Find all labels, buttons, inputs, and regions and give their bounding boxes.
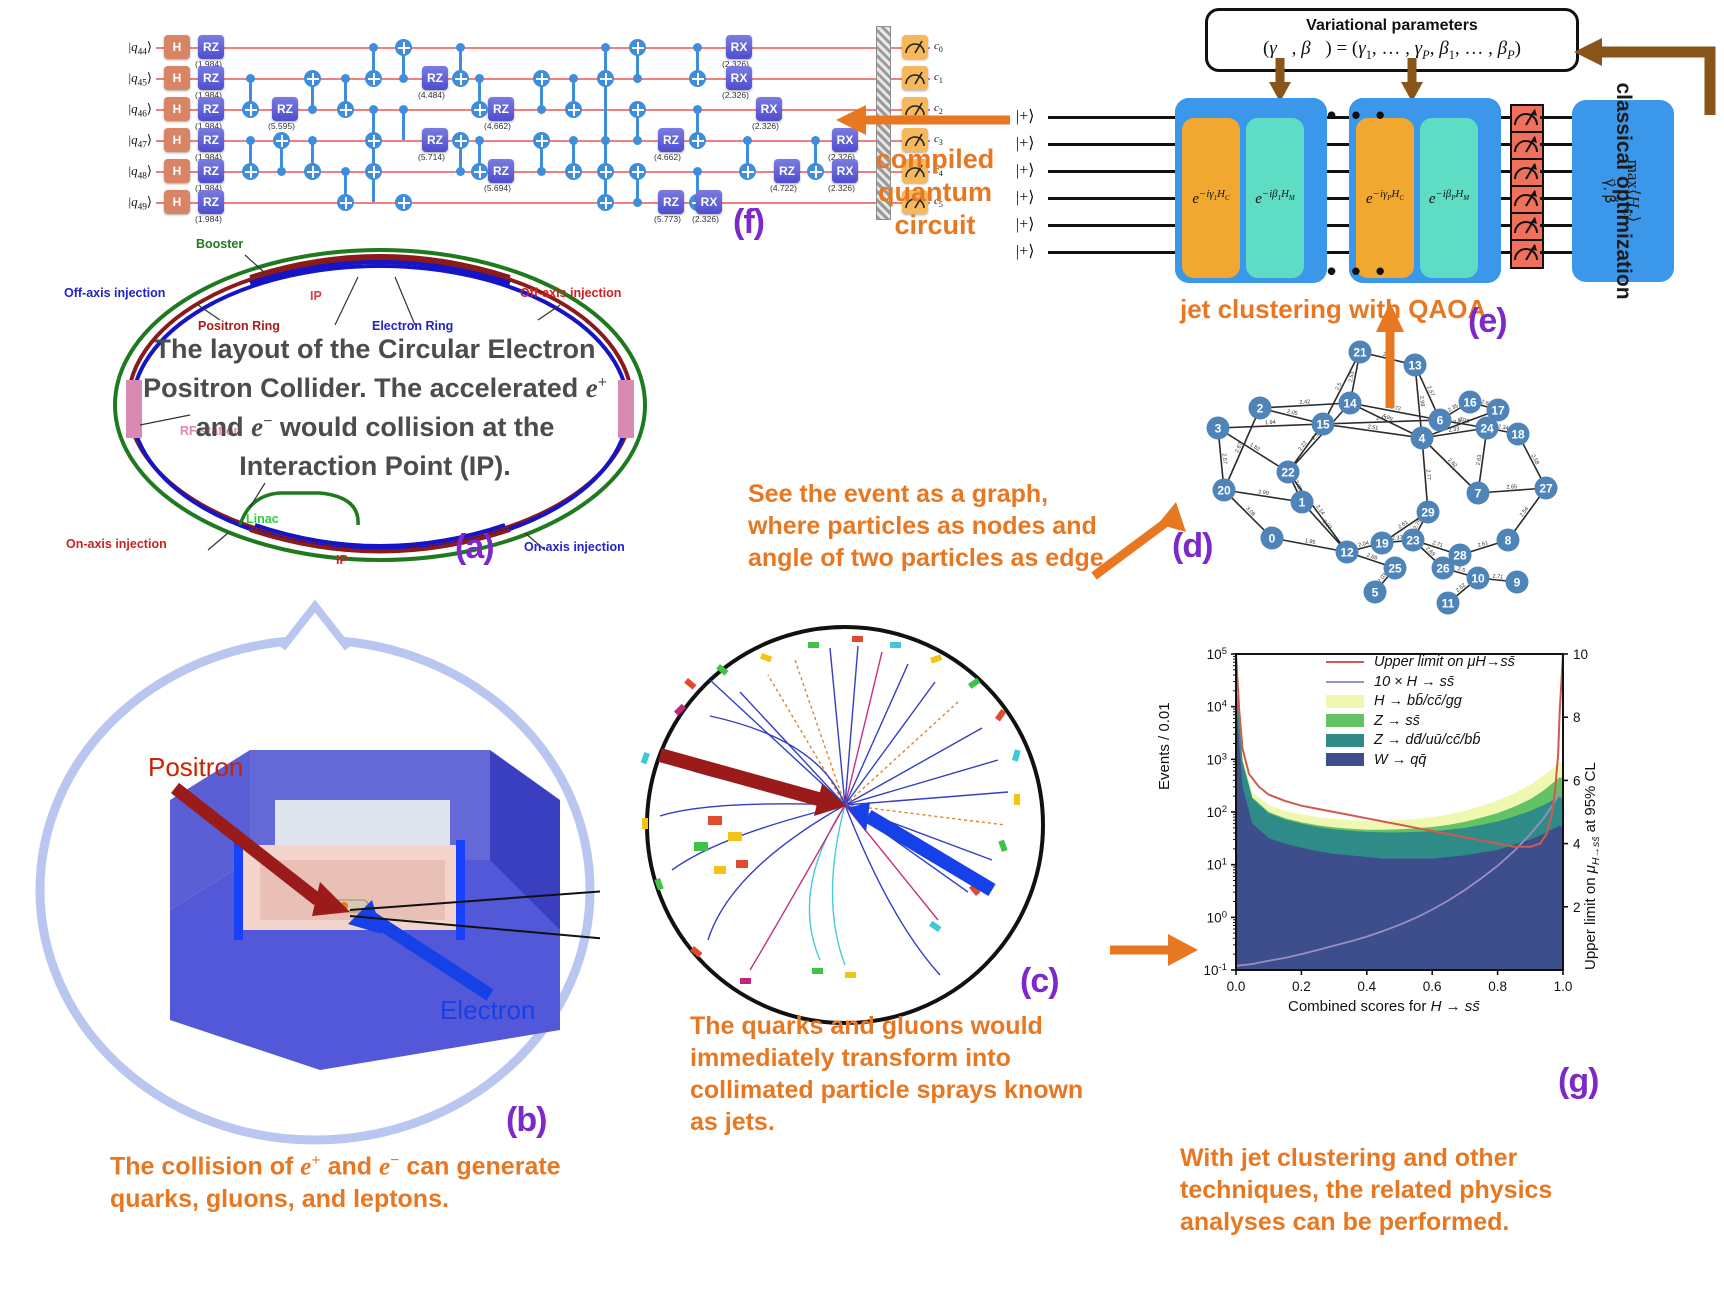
gate-h: H: [164, 128, 190, 152]
graph-node-label: 6: [1437, 414, 1444, 428]
legend-item: Z → dd̄/uū/cc̄/bb̄: [1326, 732, 1515, 748]
panel-g-caption: With jet clustering and other techniques…: [1180, 1142, 1610, 1238]
chart-xtick: 0.4: [1357, 979, 1376, 994]
gate-rz: RZ: [198, 66, 224, 90]
measure-icon: [1510, 239, 1544, 269]
qubit-label-3: |q47⟩: [96, 132, 152, 151]
panel-letter-b: (b): [506, 1101, 546, 1140]
panel-c-caption: The quarks and gluons would immediately …: [690, 1010, 1100, 1138]
label-off-axis-injection-right: Off-axis injection: [520, 286, 621, 300]
graph-node-label: 0: [1269, 532, 1276, 546]
chart-ytick: 102: [1207, 804, 1227, 820]
graph-node-label: 18: [1511, 428, 1525, 442]
graph-node-label: 16: [1463, 396, 1477, 410]
gate-rz: RZ: [198, 35, 224, 59]
classical-optimization-formula: max⟨HC⟩γ⃗, β⃗: [1600, 160, 1643, 223]
graph-edge-weight: 2.98: [1418, 396, 1425, 407]
detector-panel: [20, 600, 600, 1160]
graph-edge-weight: 2.57: [1220, 453, 1227, 464]
panel-letter-f: (f): [733, 203, 764, 242]
chart-xtick: 1.0: [1554, 979, 1573, 994]
graph-node-label: 24: [1480, 422, 1494, 436]
chart-y2tick: 8: [1573, 710, 1581, 725]
chart-ylabel: Events / 0.01: [1156, 702, 1173, 790]
graph-edge-weight: 2.05: [1286, 409, 1298, 417]
gate-rz: RZ: [774, 159, 800, 183]
graph-node-label: 12: [1340, 546, 1354, 560]
graph-edge-weight: 2.71: [1492, 573, 1503, 580]
physics-analysis-chart: 0.00.20.40.60.81.010-1100101102103104105…: [1178, 640, 1598, 1040]
measure-icon: [1510, 185, 1544, 215]
gate-rz-param: (5.714): [418, 152, 445, 162]
legend-item: Upper limit on μH→ss̄: [1326, 654, 1515, 670]
label-on-axis-injection-right: On-axis injection: [524, 540, 625, 554]
variational-title: Variational parameters: [1222, 17, 1562, 35]
label-off-axis-injection-left: Off-axis injection: [64, 286, 165, 300]
gate-rz-param: (4.722): [770, 183, 797, 193]
chart-xlabel: Combined scores for H → ss̄: [1288, 998, 1480, 1015]
gate-h: H: [164, 66, 190, 90]
graph-node-label: 8: [1505, 534, 1512, 548]
panel-e-caption: jet clustering with QAOA: [1180, 293, 1486, 326]
legend-label: H → bb̄/cc̄/gg: [1374, 693, 1462, 709]
graph-edge: [1218, 428, 1288, 472]
panel-b-caption: The collision of e+ and e− can generate …: [110, 1150, 650, 1215]
graph-node-label: 9: [1514, 576, 1521, 590]
gate-rz-param: (5.595): [268, 121, 295, 131]
graph-edge-weight: 2.71: [1431, 540, 1443, 549]
graph-node-label: 20: [1217, 484, 1231, 498]
graph-node-label: 5: [1372, 586, 1379, 600]
chart-ytick: 103: [1207, 751, 1227, 767]
graph-node-label: 28: [1453, 549, 1467, 563]
gate-rz: RZ: [272, 97, 298, 121]
measure-icon: [1510, 131, 1544, 161]
graph-node-label: 1: [1299, 496, 1306, 510]
graph-edge: [1422, 438, 1478, 493]
graph-node-label: 23: [1406, 534, 1420, 548]
legend-swatch: [1326, 714, 1364, 727]
gate-rz-param: (5.694): [484, 183, 511, 193]
graph-node-label: 4: [1419, 432, 1426, 446]
graph-node-label: 14: [1343, 397, 1357, 411]
gate-rz-param: (4.662): [654, 152, 681, 162]
legend-item: 10 × H → ss̄: [1326, 674, 1515, 690]
legend-label: W → qq̄: [1374, 752, 1426, 768]
gate-rx: RX: [696, 190, 722, 214]
graph-node-label: 17: [1491, 404, 1505, 418]
qubit-label-2: |q46⟩: [96, 101, 152, 120]
gate-rz: RZ: [422, 66, 448, 90]
label-ip-top: IP: [310, 289, 322, 303]
panel-letter-c: (c): [1020, 962, 1059, 1001]
compiled-circuit-label: compiled quantum circuit: [860, 143, 1010, 242]
legend-item: Z → ss̄: [1326, 713, 1515, 729]
legend-swatch: [1326, 661, 1364, 663]
gate-rz-param: (1.984): [195, 214, 222, 224]
legend-label: Z → dd̄/uū/cc̄/bb̄: [1374, 732, 1480, 748]
measure-icon: [1510, 212, 1544, 242]
chart-ytick: 104: [1207, 699, 1227, 715]
classical-optimization-box: classical optimization max⟨HC⟩γ⃗, β⃗: [1572, 100, 1674, 282]
gate-rz: RZ: [422, 128, 448, 152]
graph-node-label: 13: [1408, 359, 1422, 373]
qubit-label-5: |q49⟩: [96, 194, 152, 213]
gate-rx: RX: [756, 97, 782, 121]
gate-rz-param: (4.484): [418, 90, 445, 100]
graph-edge-weight: 2.65: [1506, 484, 1517, 491]
legend-swatch: [1326, 734, 1364, 747]
chart-y2label: Upper limit on μH→ss̄ at 95% CL: [1582, 762, 1602, 970]
electron-label: Electron: [440, 995, 535, 1026]
qubit-label-0: |q44⟩: [96, 39, 152, 58]
positron-label: Positron: [148, 752, 243, 783]
chart-ytick: 105: [1207, 646, 1227, 662]
graph-edge-weight: 2.61: [1477, 540, 1489, 549]
chart-y2tick: 4: [1573, 837, 1581, 852]
legend-label: 10 × H → ss̄: [1374, 674, 1454, 690]
variational-parameters-box: Variational parameters (γ⃗, β⃗) = (γ1, ……: [1205, 8, 1579, 72]
graph-node-label: 25: [1388, 562, 1402, 576]
graph-edge-weight: 2.5: [1334, 382, 1343, 392]
gate-rz-param: (5.773): [654, 214, 681, 224]
label-booster: Booster: [196, 237, 243, 251]
gate-rz: RZ: [198, 190, 224, 214]
gate-h: H: [164, 97, 190, 121]
chart-xtick: 0.2: [1292, 979, 1311, 994]
initial-state-5: |+⟩: [1016, 241, 1034, 261]
label-linac: Linac: [246, 512, 279, 526]
measure-icon: [1510, 104, 1544, 134]
qubit-label-4: |q48⟩: [96, 163, 152, 182]
arrow-c-to-d: [1090, 500, 1200, 580]
initial-state-4: |+⟩: [1016, 214, 1034, 234]
gate-rz: RZ: [658, 128, 684, 152]
graph-edge-weight: 3.08: [1244, 506, 1256, 518]
initial-state-3: |+⟩: [1016, 187, 1034, 207]
graph-edge-weight: 2.62: [1446, 457, 1458, 469]
arrow-e-to-f: [830, 100, 1010, 140]
qubit-label-1: |q45⟩: [96, 70, 152, 89]
gate-rz: RZ: [658, 190, 684, 214]
classical-bit-label: c1: [934, 71, 943, 85]
gate-rz: RZ: [488, 97, 514, 121]
graph-edge-weight: 2.04: [1358, 540, 1370, 548]
graph-node-label: 29: [1421, 506, 1435, 520]
initial-state-2: |+⟩: [1016, 160, 1034, 180]
chart-y2tick: 6: [1573, 773, 1581, 788]
graph-edge-weight: 1.94: [1265, 420, 1276, 426]
gate-rx: RX: [726, 66, 752, 90]
panel-a-overlay-text: The layout of the Circular Electron Posi…: [130, 330, 620, 487]
graph-node-label: 2: [1257, 402, 1264, 416]
panel-letter-g: (g): [1558, 1062, 1598, 1101]
classical-bit-label: c0: [934, 40, 943, 54]
graph-node-label: 21: [1353, 346, 1367, 360]
panel-letter-a: (a): [455, 528, 494, 567]
legend-swatch: [1326, 695, 1364, 708]
chart-ytick: 10-1: [1204, 962, 1227, 978]
chart-xtick: 0.0: [1227, 979, 1246, 994]
legend-label: Upper limit on μH→ss̄: [1374, 654, 1515, 670]
gate-rx-param: (2.326): [828, 183, 855, 193]
gate-rx-param: (2.326): [722, 90, 749, 100]
chart-xtick: 0.8: [1488, 979, 1507, 994]
panel-d-caption: See the event as a graph, where particle…: [748, 478, 1128, 574]
initial-state-0: |+⟩: [1016, 106, 1034, 126]
initial-state-1: |+⟩: [1016, 133, 1034, 153]
graph-node-label: 3: [1215, 422, 1222, 436]
chart-ytick: 101: [1207, 857, 1227, 873]
graph-node-label: 11: [1442, 597, 1455, 611]
graph-edge-weight: 2.69: [1424, 546, 1436, 558]
graph-edge-weight: 2.42: [1299, 399, 1310, 406]
gate-rx-param: (2.326): [752, 121, 779, 131]
chart-ytick: 100: [1207, 909, 1227, 925]
gate-rx: RX: [726, 35, 752, 59]
gate-rz-param: (4.662): [484, 121, 511, 131]
chart-y2tick: 2: [1573, 900, 1581, 915]
gate-h: H: [164, 35, 190, 59]
label-ip-bottom: IP: [336, 553, 348, 567]
chart-xtick: 0.6: [1423, 979, 1442, 994]
measure-icon: [902, 66, 928, 90]
measure-icon: [902, 35, 928, 59]
legend-swatch: [1326, 681, 1364, 683]
graph-node-label: 27: [1539, 482, 1553, 496]
legend-item: W → qq̄: [1326, 752, 1515, 768]
legend-label: Z → ss̄: [1374, 713, 1420, 729]
gate-h: H: [164, 159, 190, 183]
legend-swatch: [1326, 753, 1364, 766]
gate-rx: RX: [832, 159, 858, 183]
graph-node-label: 7: [1475, 487, 1482, 501]
legend-item: H → bb̄/cc̄/gg: [1326, 693, 1515, 709]
arrow-d-to-e: [1370, 300, 1410, 410]
chart-legend: Upper limit on μH→ss̄10 × H → ss̄H → bb̄…: [1326, 654, 1515, 771]
graph-node-label: 26: [1436, 562, 1450, 576]
gate-rx-param: (2.326): [692, 214, 719, 224]
gate-rz: RZ: [488, 159, 514, 183]
gate-rz: RZ: [198, 128, 224, 152]
graph-node-label: 22: [1281, 466, 1295, 480]
graph-node-label: 19: [1375, 537, 1389, 551]
gate-rz: RZ: [198, 159, 224, 183]
label-on-axis-injection-left: On-axis injection: [66, 537, 167, 551]
graph-edge-weight: 2.77: [1425, 469, 1432, 480]
graph-node-label: 15: [1316, 418, 1330, 432]
graph-node-label: 10: [1471, 572, 1485, 586]
measure-icon: [1510, 158, 1544, 188]
gate-rz: RZ: [198, 97, 224, 121]
quantum-circuit-panel: |q44⟩ |q45⟩ |q46⟩ |q47⟩ |q48⟩ |q49⟩ H H …: [96, 14, 936, 232]
chart-y2tick: 10: [1573, 647, 1588, 662]
gate-h: H: [164, 190, 190, 214]
